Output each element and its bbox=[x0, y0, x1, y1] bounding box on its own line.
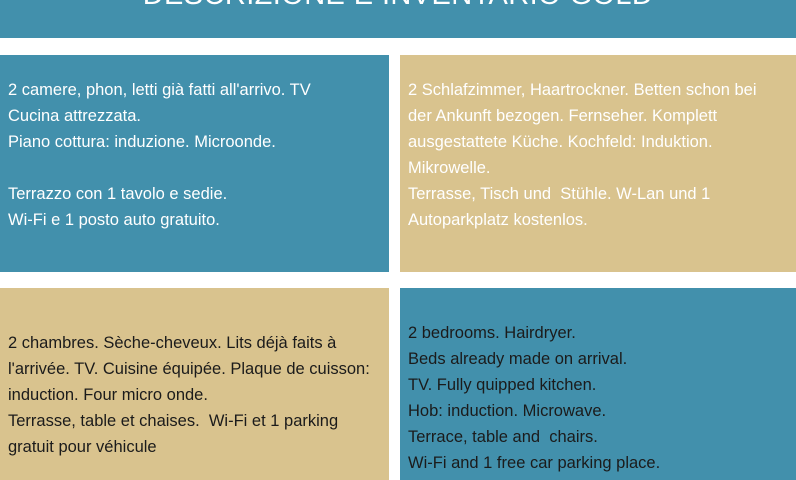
panel-italian: 2 camere, phon, letti già fatti all'arri… bbox=[0, 55, 389, 272]
page-title: DESCRIZIONE E INVENTARIO GOLD bbox=[0, 0, 796, 12]
panel-italian-text: 2 camere, phon, letti già fatti all'arri… bbox=[8, 77, 377, 233]
description-panel-grid: 2 camere, phon, letti già fatti all'arri… bbox=[0, 55, 796, 480]
panel-english-text: 2 bedrooms. Hairdryer. Beds already made… bbox=[408, 320, 782, 476]
panel-french: 2 chambres. Sèche-cheveux. Lits déjà fai… bbox=[0, 288, 389, 480]
title-band: DESCRIZIONE E INVENTARIO GOLD bbox=[0, 0, 796, 38]
panel-english: 2 bedrooms. Hairdryer. Beds already made… bbox=[400, 288, 796, 480]
panel-german: 2 Schlafzimmer, Haartrockner. Betten sch… bbox=[400, 55, 796, 272]
panel-german-text: 2 Schlafzimmer, Haartrockner. Betten sch… bbox=[408, 77, 782, 233]
panel-french-text: 2 chambres. Sèche-cheveux. Lits déjà fai… bbox=[8, 330, 375, 460]
